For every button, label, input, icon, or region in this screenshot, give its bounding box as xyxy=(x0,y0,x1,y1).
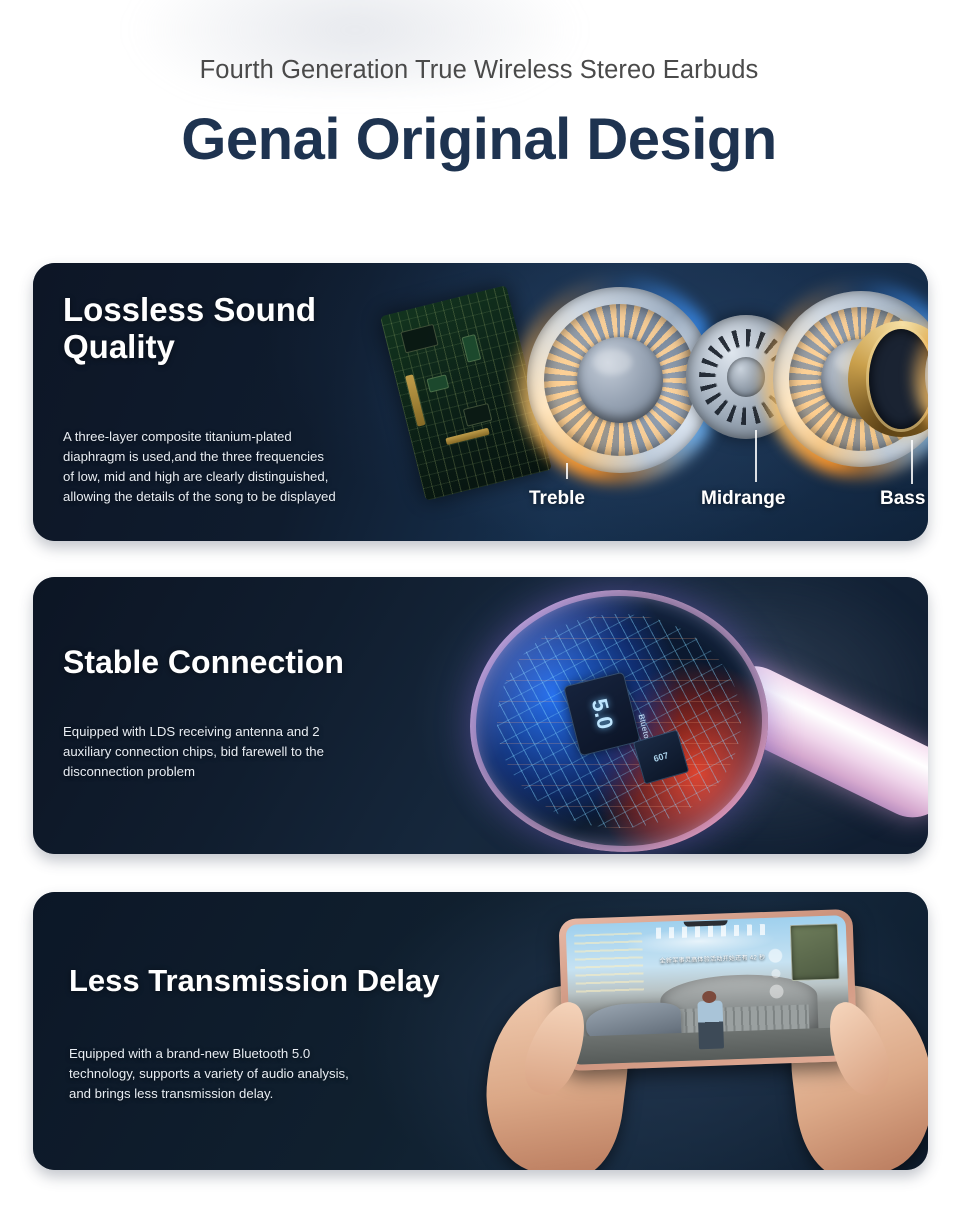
callout-label-treble: Treble xyxy=(529,488,585,510)
leader-line-bass xyxy=(911,440,913,484)
game-minimap-hud xyxy=(790,924,840,982)
callout-label-bass: Bass xyxy=(880,488,925,510)
card-1-text-block: Lossless Sound Quality A three-layer com… xyxy=(63,292,463,507)
callout-label-midrange: Midrange xyxy=(701,488,785,510)
game-hangar xyxy=(660,972,819,1036)
pcb-pad xyxy=(461,334,481,363)
game-player-character xyxy=(697,1001,724,1049)
feature-card-stable-connection[interactable]: 5.0 Bluetooth 607 Stable Connection Equi… xyxy=(33,577,928,854)
transparent-earbud-image: 5.0 Bluetooth 607 xyxy=(470,590,768,852)
leader-line-midrange xyxy=(755,430,757,482)
game-event-banner: 全新军事灵高体验活动开始还有 42 秒 xyxy=(651,948,775,968)
product-feature-page: Fourth Generation True Wireless Stereo E… xyxy=(0,0,958,1208)
bluetooth-chip: 5.0 Bluetooth xyxy=(563,672,641,757)
game-screen: 全新军事灵高体验活动开始还有 42 秒 xyxy=(566,915,851,1065)
page-header: Fourth Generation True Wireless Stereo E… xyxy=(0,0,958,169)
feature-card-less-transmission-delay[interactable]: 全新军事灵高体验活动开始还有 42 秒 Less Transmission De… xyxy=(33,892,928,1170)
feature-card-lossless-sound-quality[interactable]: Treble Midrange Bass Lossless Sound Qual… xyxy=(33,263,928,541)
card-2-body: Equipped with LDS receiving antenna and … xyxy=(63,722,463,782)
card-3-text-block: Less Transmission Delay Equipped with a … xyxy=(69,964,489,1104)
chip-version-label: 5.0 xyxy=(560,675,645,753)
leader-line-treble xyxy=(566,463,568,479)
game-killfeed-hud xyxy=(574,932,643,993)
driver-dome xyxy=(577,337,663,423)
card-2-heading: Stable Connection xyxy=(63,645,463,681)
card-1-body: A three-layer composite titanium-plated … xyxy=(63,427,463,507)
card-3-body: Equipped with a brand-new Bluetooth 5.0 … xyxy=(69,1044,489,1104)
pcb-chip xyxy=(463,403,493,427)
disc-core xyxy=(727,357,765,397)
card-1-heading: Lossless Sound Quality xyxy=(63,292,463,366)
smartphone-image: 全新军事灵高体验活动开始还有 42 秒 xyxy=(558,909,857,1071)
card-2-text-block: Stable Connection Equipped with LDS rece… xyxy=(63,645,463,782)
page-title: Genai Original Design xyxy=(0,111,958,169)
card-3-heading: Less Transmission Delay xyxy=(69,964,489,999)
page-subtitle: Fourth Generation True Wireless Stereo E… xyxy=(0,58,958,84)
